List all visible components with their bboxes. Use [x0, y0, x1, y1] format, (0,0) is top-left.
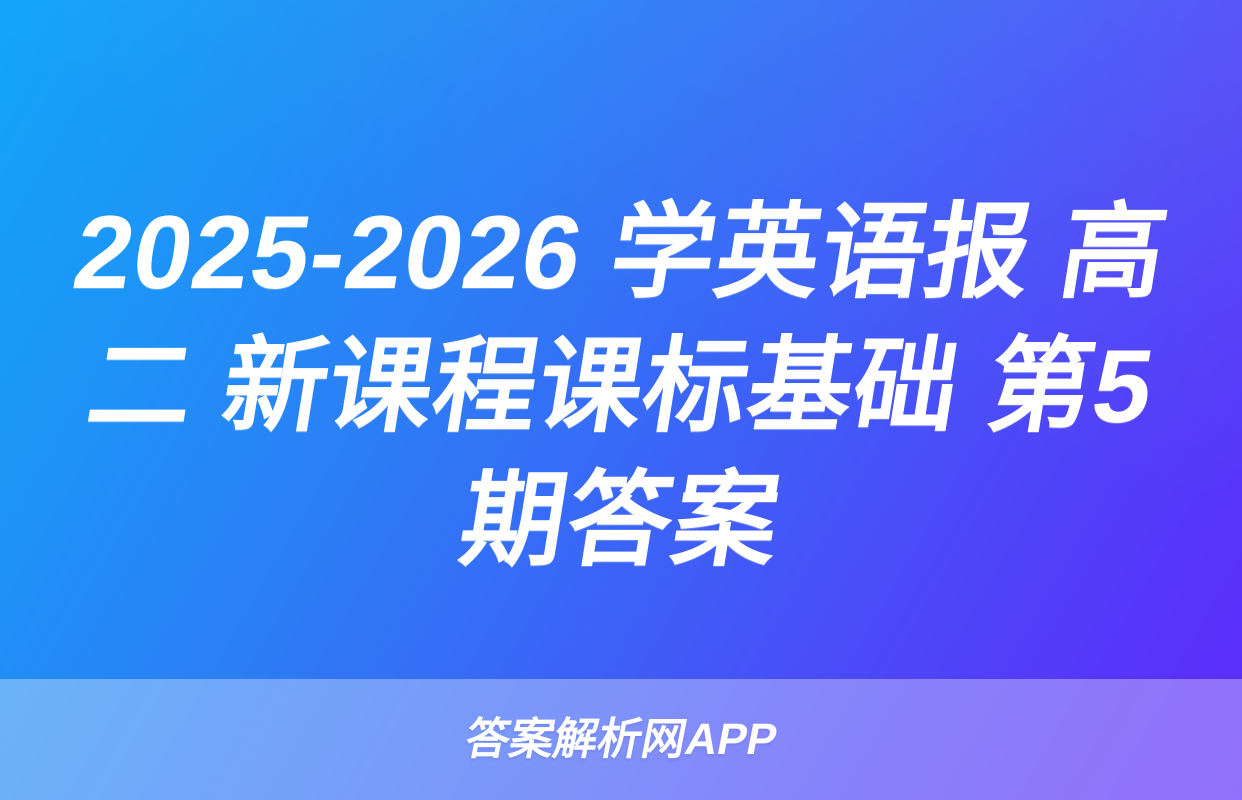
title-line-1: 2025-2026 学英语报 高 — [45, 186, 1196, 320]
page-title: 2025-2026 学英语报 高 二 新课程课标基础 第5 期答案 — [0, 186, 1242, 588]
title-line-2: 二 新课程课标基础 第5 — [45, 320, 1196, 454]
footer-brand-band: 答案解析网APP — [0, 679, 1242, 800]
poster-banner: 2025-2026 学英语报 高 二 新课程课标基础 第5 期答案 答案解析网A… — [0, 0, 1242, 800]
title-line-3: 期答案 — [45, 454, 1196, 588]
brand-name-label: 答案解析网APP — [461, 718, 780, 762]
